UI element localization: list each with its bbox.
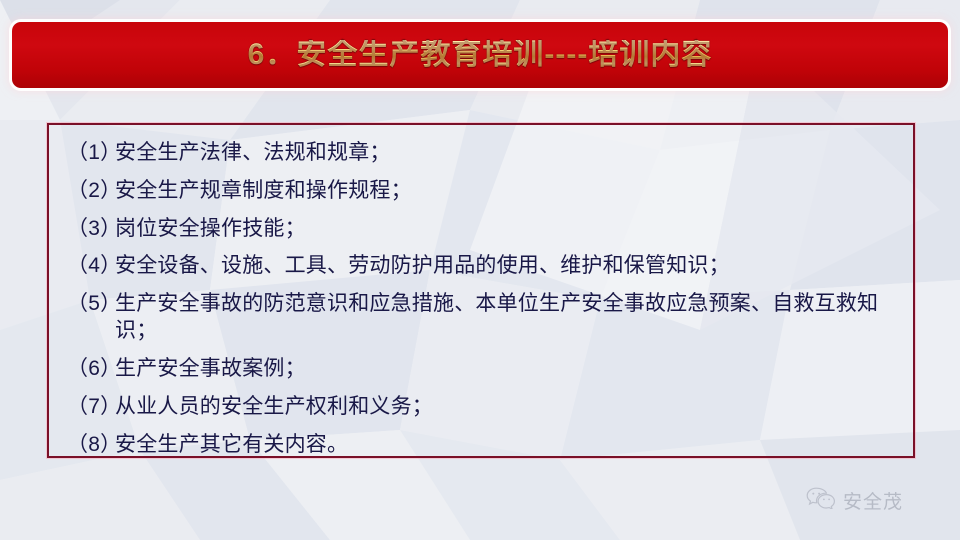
list-item-text: 安全设备、设施、工具、劳动防护用品的使用、维护和保管知识； (115, 252, 895, 279)
title-banner: 6．安全生产教育培训----培训内容 (12, 22, 948, 88)
list-item-text: 安全生产其它有关内容。 (115, 431, 895, 458)
list-item-text: 生产安全事故的防范意识和应急措施、本单位生产安全事故应急预案、自救互救知识； (115, 290, 895, 345)
list-item: （6） 生产安全事故案例； (67, 355, 895, 382)
list-item-marker: （1） (67, 139, 115, 166)
list-item-marker: （8） (67, 431, 115, 458)
list-item: （8） 安全生产其它有关内容。 (67, 431, 895, 458)
wechat-icon (806, 487, 836, 514)
list-item: （2） 安全生产规章制度和操作规程； (67, 177, 895, 204)
list-item: （3） 岗位安全操作技能； (67, 215, 895, 242)
training-content-list: （1） 安全生产法律、法规和规章； （2） 安全生产规章制度和操作规程； （3）… (67, 139, 895, 458)
list-item-marker: （2） (67, 177, 115, 204)
list-item-marker: （4） (67, 252, 115, 279)
list-item-text: 岗位安全操作技能； (115, 215, 895, 242)
page-title: 6．安全生产教育培训----培训内容 (248, 40, 713, 70)
list-item-marker: （3） (67, 215, 115, 242)
watermark-label: 安全茂 (843, 487, 903, 514)
slide-canvas: 6．安全生产教育培训----培训内容 （1） 安全生产法律、法规和规章； （2）… (0, 0, 960, 540)
list-item-marker: （7） (67, 393, 115, 420)
list-item: （7） 从业人员的安全生产权利和义务； (67, 393, 895, 420)
list-item-text: 安全生产规章制度和操作规程； (115, 177, 895, 204)
content-box: （1） 安全生产法律、法规和规章； （2） 安全生产规章制度和操作规程； （3）… (47, 123, 915, 458)
list-item-text: 从业人员的安全生产权利和义务； (115, 393, 895, 420)
list-item-marker: （6） (67, 355, 115, 382)
list-item-marker: （5） (67, 290, 115, 317)
list-item-text: 生产安全事故案例； (115, 355, 895, 382)
watermark: 安全茂 (806, 487, 903, 514)
list-item: （5） 生产安全事故的防范意识和应急措施、本单位生产安全事故应急预案、自救互救知… (67, 290, 895, 345)
list-item: （1） 安全生产法律、法规和规章； (67, 139, 895, 166)
list-item: （4） 安全设备、设施、工具、劳动防护用品的使用、维护和保管知识； (67, 252, 895, 279)
list-item-text: 安全生产法律、法规和规章； (115, 139, 895, 166)
